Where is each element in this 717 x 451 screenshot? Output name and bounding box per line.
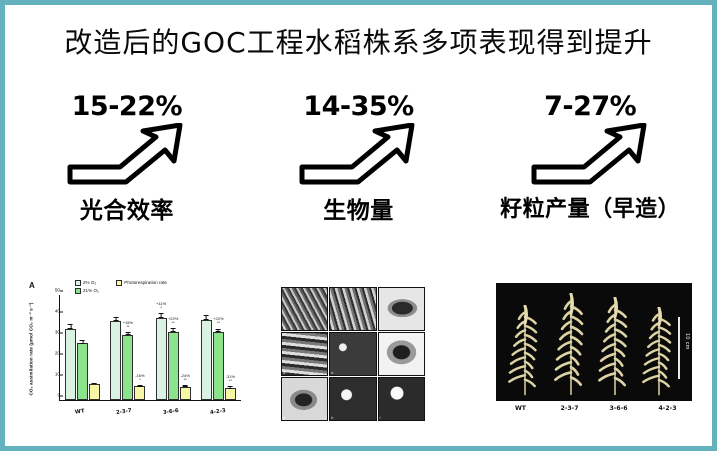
y-tick: 50: [47, 288, 60, 293]
micrograph-cell: f: [378, 332, 425, 376]
bar-wrapper: +22%**: [213, 295, 224, 400]
error-bar: [161, 313, 162, 318]
bar: [213, 332, 224, 400]
y-tick: 10: [47, 372, 60, 377]
metric-label: 生物量: [323, 191, 394, 225]
panicle-label: 4-2-3: [643, 405, 692, 412]
micrograph-tag: a: [283, 326, 285, 330]
bar-annotation: +22%**: [213, 317, 223, 325]
metric-photosynthesis: 15-22% 光合效率: [11, 93, 243, 243]
chart-bars: +15%**-16%*+11%*+22%**-24%**+22%**-31%**: [60, 295, 241, 400]
y-tick: 0: [47, 393, 60, 398]
micrograph-cell: i: [378, 377, 425, 421]
x-tick: WT: [74, 408, 84, 415]
error-bar: [206, 315, 207, 320]
error-bar: [115, 317, 116, 321]
bar-wrapper: -24%**: [180, 295, 191, 400]
legend-item-photorespiration: Photorespiration rate: [116, 280, 167, 286]
bar-wrapper: -31%**: [225, 295, 236, 400]
figure-panel-b-micrographs: WT a 3-6-6 b 4-2-3 c d e f: [273, 279, 433, 425]
micrograph-cell: e: [329, 332, 376, 376]
bar-group: +22%**-31%**: [201, 295, 236, 400]
micrograph-cell: d: [281, 332, 328, 376]
y-tick: 40: [47, 309, 60, 314]
bar: [110, 321, 121, 400]
bar-wrapper: [89, 295, 100, 400]
metric-value: 7-27%: [544, 93, 636, 121]
bar-annotation: -31%**: [226, 375, 235, 383]
error-bar: [230, 386, 231, 388]
legend-swatch-icon: [75, 288, 81, 294]
bar-wrapper: -16%*: [134, 295, 145, 400]
metric-value: 15-22%: [72, 93, 182, 121]
panel-letter: A: [29, 281, 35, 290]
y-tick: 30: [47, 330, 60, 335]
metric-label: 籽粒产量（早造）: [500, 191, 680, 223]
bar-annotation: +15%**: [123, 321, 133, 329]
bar-annotation: -16%*: [135, 374, 144, 382]
micrograph-tag: h: [331, 416, 333, 420]
bar-wrapper: [110, 295, 121, 400]
bar: [225, 388, 236, 400]
bar-wrapper: [77, 295, 88, 400]
bar: [65, 329, 76, 400]
micrograph-cell: g: [281, 377, 328, 421]
bar: [89, 384, 100, 400]
figures-row: A 2% O₂ Photorespiration rate: [5, 277, 712, 429]
rice-panicle: [552, 293, 590, 397]
micrograph-cell: 4-2-3 c: [378, 287, 425, 331]
bar-group: [65, 295, 100, 400]
metric-biomass: 14-35% 生物量: [243, 93, 475, 243]
micrograph-tag: e: [331, 371, 333, 375]
micrograph-cell: 3-6-6 b: [329, 287, 376, 331]
figure-panel-c-panicles: 10 cm WT2-3-73-6-64-2-3: [488, 279, 700, 427]
error-bar: [94, 383, 95, 384]
bar: [77, 343, 88, 400]
bar: [122, 335, 133, 400]
error-bar: [185, 385, 186, 387]
chart-legend: 2% O₂ Photorespiration rate 21% O₂: [75, 280, 243, 296]
panicle-photograph: 10 cm: [496, 283, 692, 401]
metric-grain-yield: 7-27% 籽粒产量（早造）: [474, 93, 706, 243]
chart-x-axis-ticks: WT2-3-73-6-64-2-3: [59, 409, 241, 415]
bar: [180, 387, 191, 400]
bar: [156, 318, 167, 400]
metric-label: 光合效率: [80, 191, 174, 225]
bar-group: +11%*+22%**-24%**: [156, 295, 191, 400]
bar: [168, 332, 179, 400]
error-bar: [82, 340, 83, 343]
bar-wrapper: [65, 295, 76, 400]
error-bar: [218, 329, 219, 332]
significance-stars: **: [213, 321, 223, 325]
significance-stars: *: [135, 378, 144, 382]
up-trend-arrow-icon: [528, 123, 653, 189]
up-trend-arrow-icon: [64, 123, 189, 189]
panicle-labels: WT2-3-73-6-64-2-3: [496, 405, 692, 412]
rice-panicle: [640, 307, 678, 397]
bar-wrapper: +11%*: [156, 295, 167, 400]
micrograph-tag: g: [283, 416, 285, 420]
panicle-label: 3-6-6: [594, 405, 643, 412]
bar-wrapper: +22%**: [168, 295, 179, 400]
scale-bar-label: 10 cm: [684, 333, 690, 350]
x-tick: 3-6-6: [162, 408, 178, 416]
error-bar: [139, 385, 140, 386]
bar: [134, 386, 145, 400]
micrograph-grid: WT a 3-6-6 b 4-2-3 c d e f: [281, 287, 425, 421]
micrograph-tag: b: [331, 326, 333, 330]
bar-wrapper: [201, 295, 212, 400]
error-bar: [173, 328, 174, 331]
bar: [201, 320, 212, 400]
micrograph-tag: c: [380, 326, 382, 330]
micrograph-cell: WT a: [281, 287, 328, 331]
error-bar: [127, 332, 128, 335]
rice-panicle: [506, 305, 544, 397]
up-trend-arrow-icon: [296, 123, 421, 189]
significance-stars: **: [123, 325, 133, 329]
bar-annotation: +11%*: [156, 302, 166, 310]
significance-stars: **: [226, 379, 235, 383]
bar-group: +15%**-16%*: [110, 295, 145, 400]
legend-swatch-icon: [116, 280, 122, 286]
bar-annotation: -24%**: [180, 374, 189, 382]
legend-label: Photorespiration rate: [124, 280, 167, 285]
chart-y-axis-label: CO₂ assimilation rate (μmol CO₂ m⁻² s⁻¹): [25, 297, 39, 401]
legend-label: 2% O₂: [83, 280, 96, 285]
legend-item-o2-low: 2% O₂: [75, 280, 96, 286]
panicle-label: 2-3-7: [545, 405, 594, 412]
slide-canvas: 改造后的GOC工程水稻株系多项表现得到提升 15-22% 光合效率 14-35%…: [0, 0, 717, 451]
metric-value: 14-35%: [303, 93, 413, 121]
legend-item-o2-high: 21% O₂: [75, 288, 99, 294]
legend-swatch-icon: [75, 280, 81, 286]
y-tick: 20: [47, 351, 60, 356]
x-tick: 4-2-3: [209, 408, 225, 416]
significance-stars: **: [168, 321, 178, 325]
error-bar: [70, 324, 71, 328]
panicle-label: WT: [496, 405, 545, 412]
significance-stars: **: [180, 378, 189, 382]
bar-wrapper: +15%**: [122, 295, 133, 400]
significance-stars: *: [156, 306, 166, 310]
figure-panel-a-bar-chart: A 2% O₂ Photorespiration rate: [23, 277, 247, 427]
chart-plot-area: 0 10 20 30 40 50 +15%**-16%*+11%*+22%**-…: [59, 295, 241, 401]
metrics-row: 15-22% 光合效率 14-35% 生物量 7-27%: [11, 93, 706, 243]
rice-panicle: [596, 297, 634, 397]
bar-annotation: +22%**: [168, 317, 178, 325]
micrograph-tag: d: [283, 371, 285, 375]
x-tick: 2-3-7: [115, 408, 131, 416]
scale-bar: [678, 317, 680, 379]
page-title: 改造后的GOC工程水稻株系多项表现得到提升: [5, 21, 712, 61]
micrograph-tag: i: [380, 416, 381, 420]
micrograph-cell: h: [329, 377, 376, 421]
micrograph-tag: f: [380, 371, 381, 375]
legend-label: 21% O₂: [83, 288, 99, 293]
